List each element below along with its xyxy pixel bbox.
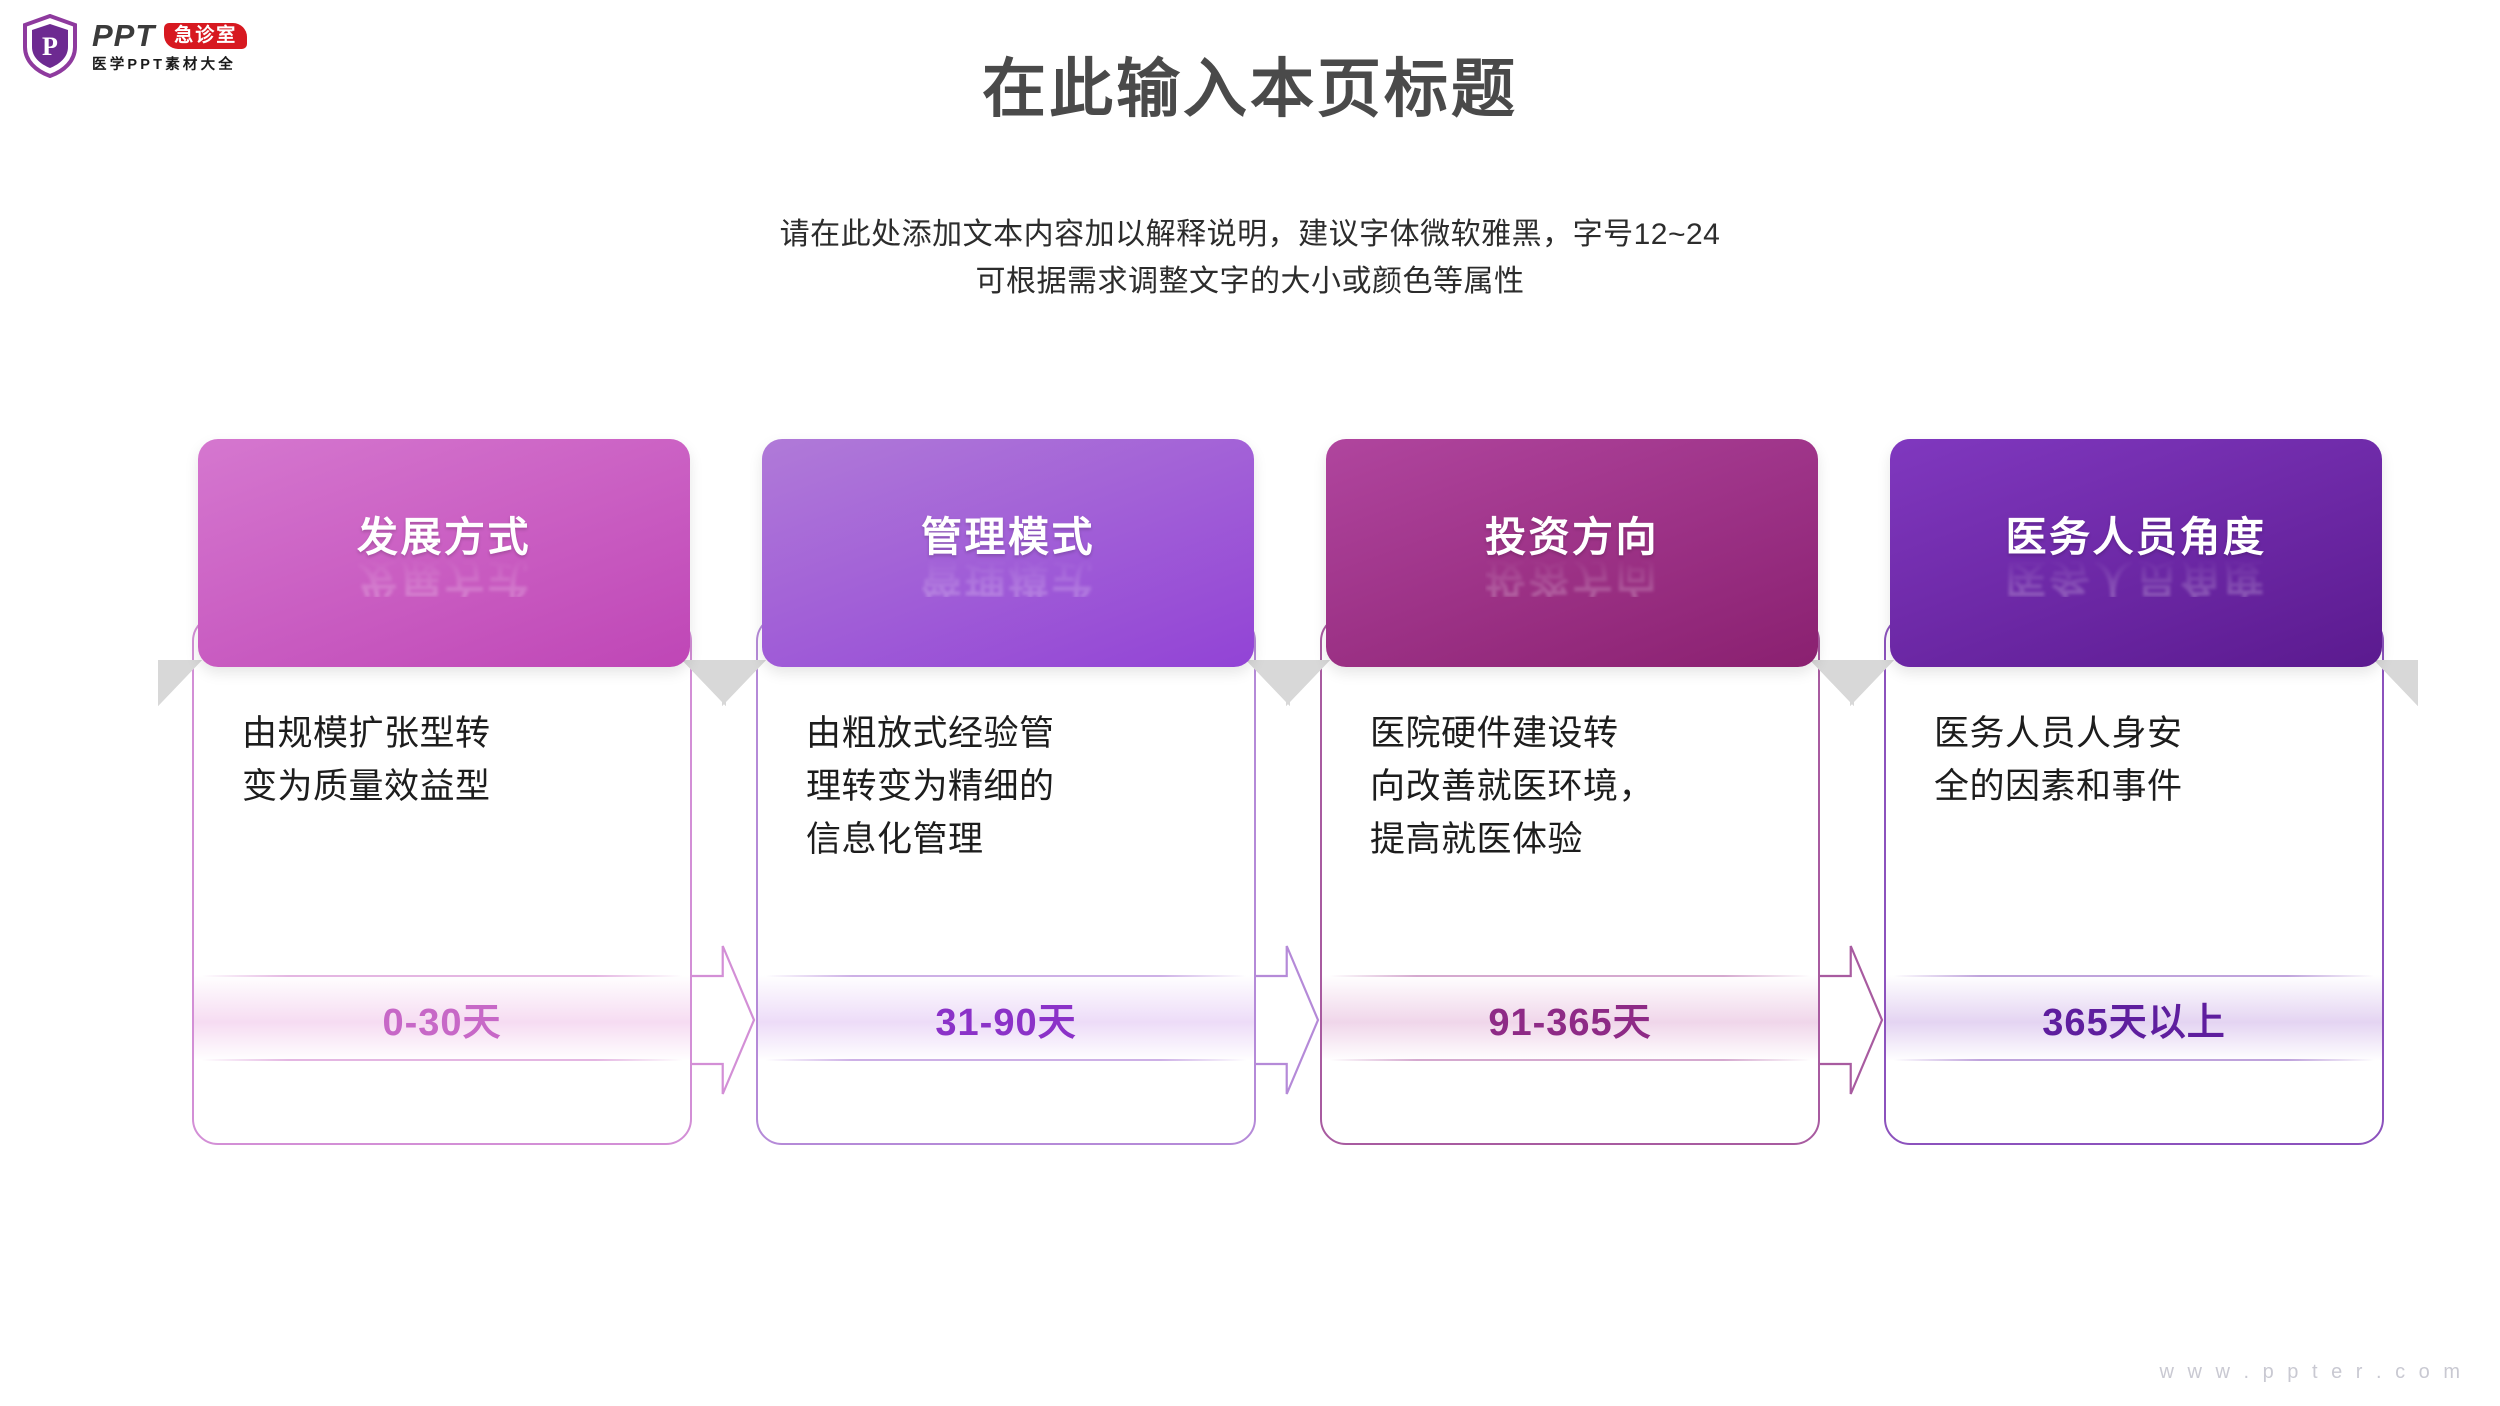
card-duration-tag: 91-365天	[1488, 991, 1651, 1046]
card-title: 医务人员角度	[2006, 517, 2267, 558]
card-title: 管理模式	[921, 517, 1095, 558]
card-body-line: 由粗放式经验管	[806, 707, 1220, 760]
card-duration-tag: 365天以上	[2042, 991, 2225, 1046]
card-body-line: 提高就医体验	[1370, 813, 1784, 866]
card-body-text: 由规模扩张型转变为质量效益型	[242, 707, 656, 813]
card-header-banner: 投资方向	[1326, 439, 1818, 667]
card-header-banner: 管理模式	[762, 439, 1254, 667]
page-title: 在此输入本页标题	[0, 38, 2500, 130]
band-rule-bottom	[202, 1059, 682, 1061]
process-card[interactable]: 管理模式由粗放式经验管理转变为精细的信息化管理31-90天	[756, 615, 1256, 1145]
card-body-line: 医院硬件建设转	[1370, 707, 1784, 760]
band-rule-top	[1330, 975, 1810, 977]
process-card[interactable]: 医务人员角度医务人员人身安全的因素和事件365天以上	[1884, 615, 2384, 1145]
ribbon-fold-left	[722, 660, 766, 706]
ribbon-fold	[762, 663, 1250, 709]
card-body-line: 全的因素和事件	[1934, 760, 2348, 813]
card-duration-tag: 0-30天	[382, 991, 501, 1046]
card-header-banner: 医务人员角度	[1890, 439, 2382, 667]
band-rule-bottom	[1894, 1059, 2374, 1061]
card-duration-band: 365天以上	[1886, 975, 2382, 1061]
band-rule-top	[202, 975, 682, 977]
card-body-line: 信息化管理	[806, 813, 1220, 866]
ribbon-fold-right	[682, 660, 726, 706]
card-title: 投资方向	[1485, 517, 1659, 558]
card-duration-tag: 31-90天	[935, 991, 1076, 1046]
ribbon-fold	[1890, 663, 2378, 709]
card-body-line: 变为质量效益型	[242, 760, 656, 813]
ribbon-fold	[198, 663, 686, 709]
card-body-text: 由粗放式经验管理转变为精细的信息化管理	[806, 707, 1220, 867]
subtitle-line-2: 可根据需求调整文字的大小或颜色等属性	[0, 259, 2500, 306]
process-card[interactable]: 投资方向医院硬件建设转向改善就医环境，提高就医体验91-365天	[1320, 615, 1820, 1145]
flow-arrow-connector	[692, 870, 756, 1170]
card-title: 发展方式	[357, 517, 531, 558]
ribbon-fold	[1326, 663, 1814, 709]
card-body-text: 医务人员人身安全的因素和事件	[1934, 707, 2348, 813]
flow-arrow-connector	[1256, 870, 1320, 1170]
ribbon-fold-right	[2374, 660, 2418, 706]
card-body-line: 理转变为精细的	[806, 760, 1220, 813]
ribbon-fold-left	[1286, 660, 1330, 706]
ribbon-fold-right	[1246, 660, 1290, 706]
card-body-line: 向改善就医环境，	[1370, 760, 1784, 813]
card-body-line: 由规模扩张型转	[242, 707, 656, 760]
ribbon-fold-left	[158, 660, 202, 706]
card-header-banner: 发展方式	[198, 439, 690, 667]
watermark: w w w . p p t e r . c o m	[2160, 1361, 2465, 1384]
band-rule-bottom	[1330, 1059, 1810, 1061]
flow-arrow-connector	[1820, 870, 1884, 1170]
subtitle-line-1: 请在此处添加文本内容加以解释说明，建议字体微软雅黑，字号12~24	[0, 212, 2500, 259]
page-subtitle: 请在此处添加文本内容加以解释说明，建议字体微软雅黑，字号12~24 可根据需求调…	[0, 212, 2500, 305]
ribbon-fold-right	[1810, 660, 1854, 706]
band-rule-bottom	[766, 1059, 1246, 1061]
band-rule-top	[1894, 975, 2374, 977]
card-body-line: 医务人员人身安	[1934, 707, 2348, 760]
band-rule-top	[766, 975, 1246, 977]
process-flow-diagram: 发展方式由规模扩张型转变为质量效益型0-30天管理模式由粗放式经验管理转变为精细…	[0, 430, 2500, 1210]
card-duration-band: 0-30天	[194, 975, 690, 1061]
card-body-text: 医院硬件建设转向改善就医环境，提高就医体验	[1370, 707, 1784, 867]
card-duration-band: 31-90天	[758, 975, 1254, 1061]
process-card[interactable]: 发展方式由规模扩张型转变为质量效益型0-30天	[192, 615, 692, 1145]
ribbon-fold-left	[1850, 660, 1894, 706]
card-duration-band: 91-365天	[1322, 975, 1818, 1061]
